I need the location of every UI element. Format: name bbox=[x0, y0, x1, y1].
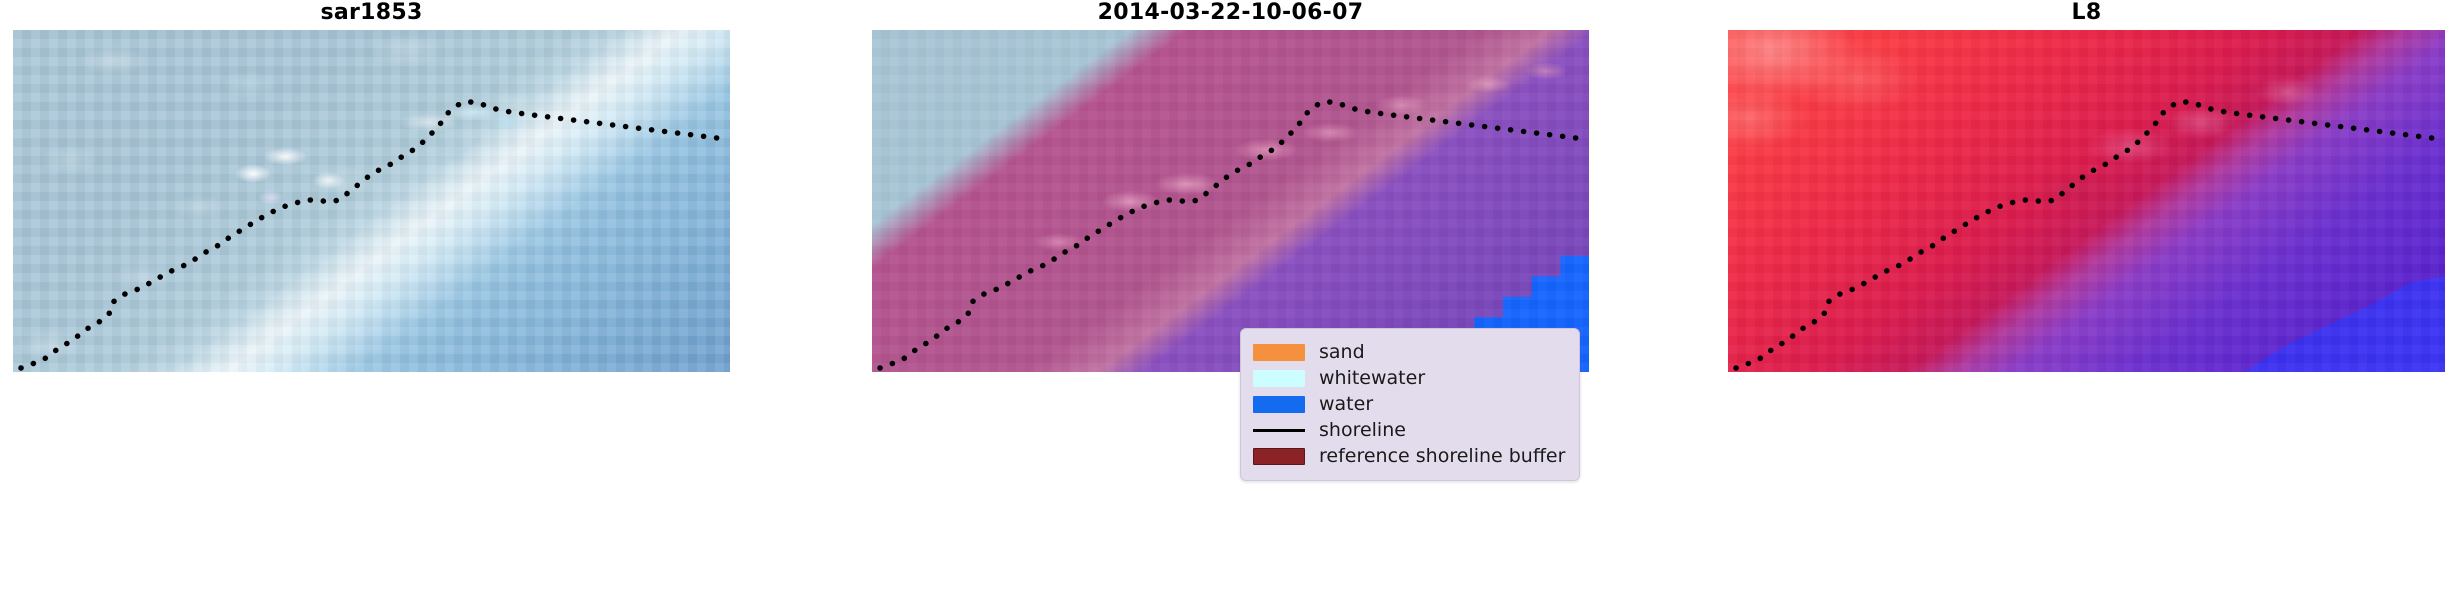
panel-image-classification bbox=[872, 30, 1589, 372]
pixel-grid-texture bbox=[872, 30, 1589, 372]
pixel-grid-texture bbox=[1728, 30, 2445, 372]
panel-title-3: L8 bbox=[1728, 0, 2445, 30]
legend-swatch-reference-shoreline-buffer bbox=[1253, 448, 1305, 465]
panel-sar1853: sar1853 bbox=[13, 0, 730, 372]
legend-item-water: water bbox=[1253, 391, 1567, 417]
legend-label-reference-shoreline-buffer: reference shoreline buffer bbox=[1319, 446, 1565, 466]
figure-canvas: sar1853 2014-03-22-10-06-07 L8 bbox=[0, 0, 2460, 598]
legend-item-whitewater: whitewater bbox=[1253, 365, 1567, 391]
legend-box: sand whitewater water shoreline referenc… bbox=[1240, 328, 1580, 481]
legend-item-sand: sand bbox=[1253, 339, 1567, 365]
legend-item-reference-shoreline-buffer: reference shoreline buffer bbox=[1253, 443, 1567, 469]
panel-l8: L8 bbox=[1728, 0, 2445, 372]
legend-label-sand: sand bbox=[1319, 342, 1365, 362]
legend-label-whitewater: whitewater bbox=[1319, 368, 1425, 388]
legend-label-shoreline: shoreline bbox=[1319, 420, 1406, 440]
panel-title-1: sar1853 bbox=[13, 0, 730, 30]
panel-title-2: 2014-03-22-10-06-07 bbox=[872, 0, 1589, 30]
panel-image-sar1853 bbox=[13, 30, 730, 372]
whitewater-surf-layer bbox=[13, 30, 730, 372]
legend-swatch-water bbox=[1253, 396, 1305, 413]
legend-swatch-whitewater bbox=[1253, 370, 1305, 387]
legend-swatch-sand bbox=[1253, 344, 1305, 361]
legend-line-shoreline bbox=[1253, 422, 1305, 439]
panel-image-l8 bbox=[1728, 30, 2445, 372]
legend-item-shoreline: shoreline bbox=[1253, 417, 1567, 443]
legend-label-water: water bbox=[1319, 394, 1373, 414]
panel-classification: 2014-03-22-10-06-07 bbox=[872, 0, 1589, 372]
